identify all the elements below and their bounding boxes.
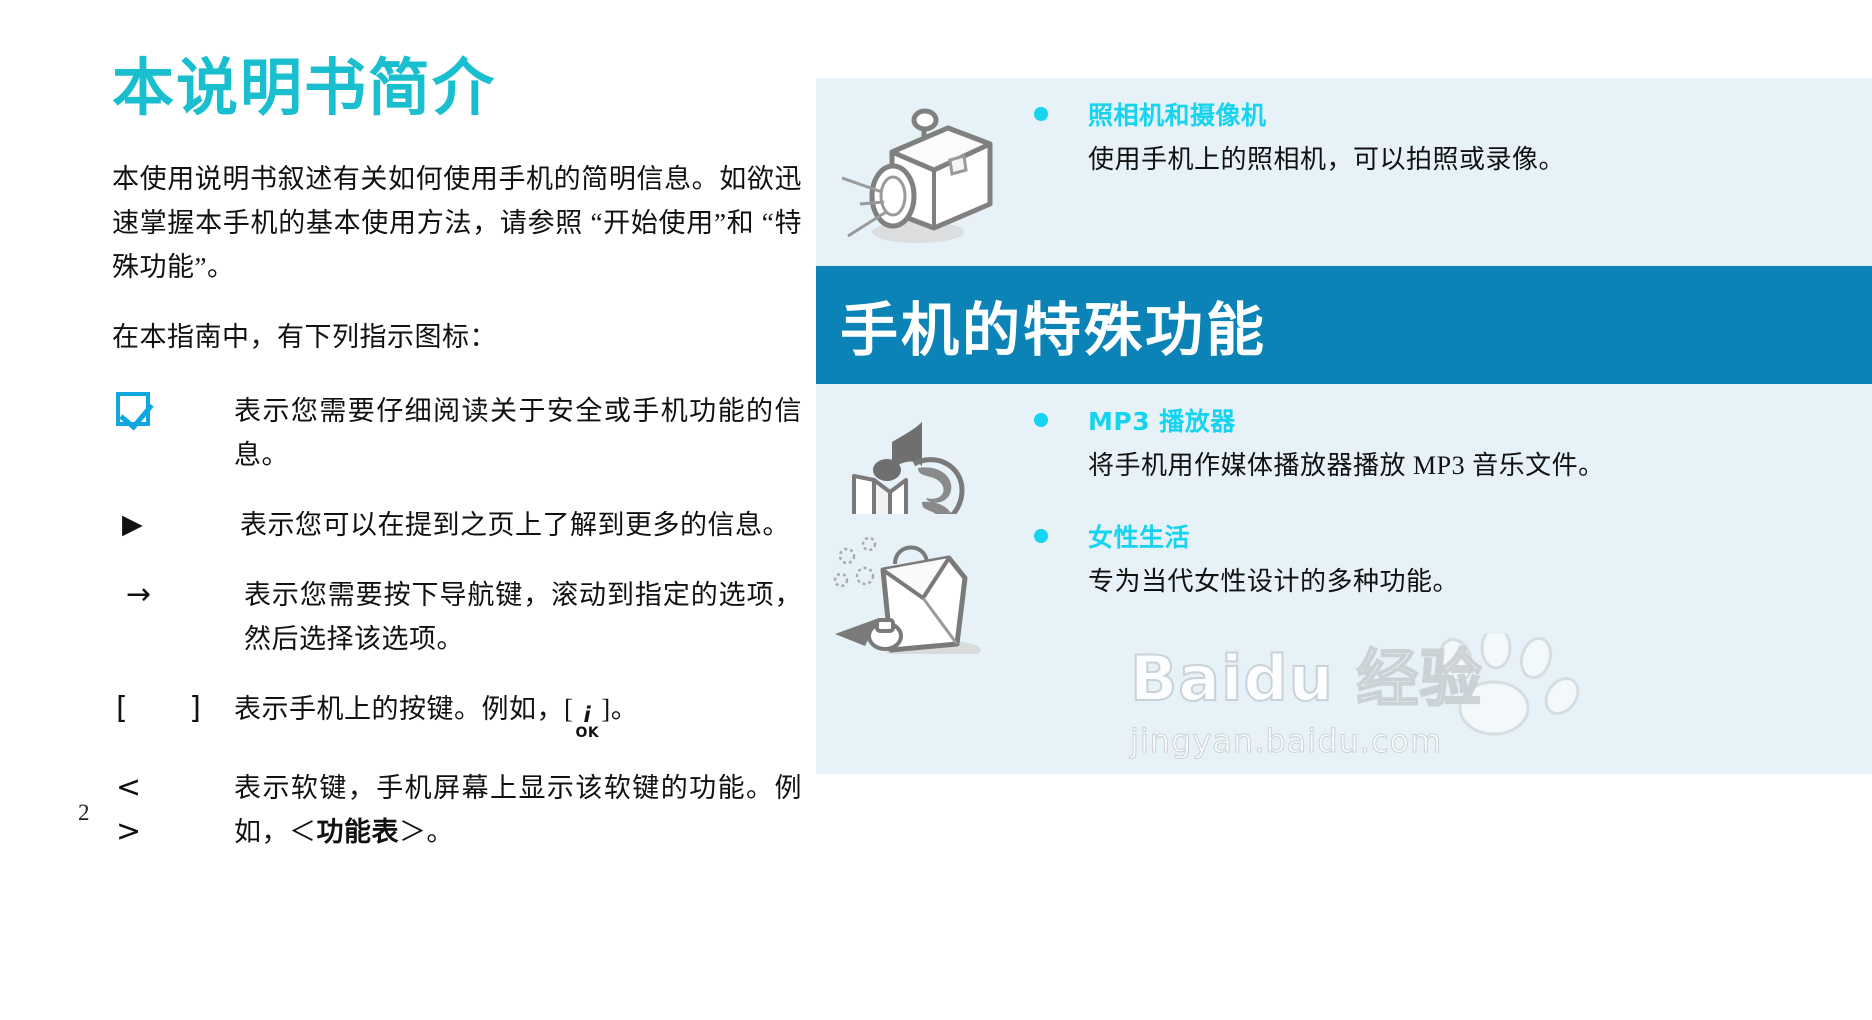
right-panel: 照相机和摄像机 使用手机上的照相机，可以拍照或录像。 手机的特殊功能	[816, 78, 1872, 768]
camera-icon	[816, 96, 1034, 260]
convention-description: 表示软键，手机屏幕上显示该软键的功能。例如，＜功能表＞。	[234, 766, 802, 855]
convention-item-angle-brackets: < > 表示软键，手机屏幕上显示该软键的功能。例如，＜功能表＞。	[112, 766, 802, 855]
feature-mp3: MP3 播放器 将手机用作媒体播放器播放 MP3 音乐文件。	[816, 384, 1872, 514]
bullet-icon	[1034, 413, 1048, 427]
conventions-list: 表示您需要仔细阅读关于安全或手机功能的信息。 ▶ 表示您可以在提到之页上了解到更…	[112, 389, 802, 855]
feature-camera: 照相机和摄像机 使用手机上的照相机，可以拍照或录像。	[816, 78, 1872, 266]
triangle-right-icon: ▶	[112, 503, 240, 547]
bullet-icon	[1034, 529, 1048, 543]
page-number: 2	[78, 800, 90, 826]
left-column: 本说明书简介 本使用说明书叙述有关如何使用手机的简明信息。如欲迅速掌握本手机的基…	[112, 52, 802, 881]
feature-womens-life-heading: 女性生活	[1034, 518, 1832, 554]
feature-title: MP3 播放器	[1088, 402, 1236, 438]
convention-description: 表示您需要仔细阅读关于安全或手机功能的信息。	[234, 389, 802, 477]
feature-womens-life: 女性生活 专为当代女性设计的多种功能。	[816, 514, 1872, 654]
convention-description: 表示手机上的按键。例如，[iOK]。	[234, 687, 802, 740]
feature-title: 照相机和摄像机	[1088, 96, 1267, 132]
convention-item-arrow: → 表示您需要按下导航键，滚动到指定的选项，然后选择该选项。	[112, 573, 802, 661]
checkbox-checked-icon	[116, 392, 150, 426]
feature-description: 使用手机上的照相机，可以拍照或录像。	[1034, 140, 1688, 180]
panel-filler	[816, 654, 1872, 774]
convention-description: 表示您可以在提到之页上了解到更多的信息。	[240, 503, 802, 547]
womens-life-icon	[816, 518, 1034, 672]
womens-life-icon-svg	[825, 522, 1025, 672]
feature-description: 将手机用作媒体播放器播放 MP3 音乐文件。	[1034, 446, 1688, 486]
intro-paragraph-2: 在本指南中，有下列指示图标：	[112, 315, 802, 359]
feature-camera-text: 照相机和摄像机 使用手机上的照相机，可以拍照或录像。	[1034, 96, 1872, 180]
feature-mp3-heading: MP3 播放器	[1034, 402, 1832, 438]
intro-paragraph-1: 本使用说明书叙述有关如何使用手机的简明信息。如欲迅速掌握本手机的基本使用方法，请…	[112, 157, 802, 289]
angle-brackets-icon: < >	[112, 766, 234, 854]
convention-item-checkbox: 表示您需要仔细阅读关于安全或手机功能的信息。	[112, 389, 802, 477]
convention-description-after: ]。	[601, 694, 638, 724]
bullet-icon	[1034, 107, 1048, 121]
feature-title: 女性生活	[1088, 518, 1190, 554]
camera-icon-svg	[830, 100, 1020, 260]
convention-item-triangle: ▶ 表示您可以在提到之页上了解到更多的信息。	[112, 503, 802, 547]
manual-page: 本说明书简介 本使用说明书叙述有关如何使用手机的简明信息。如欲迅速掌握本手机的基…	[0, 0, 1872, 1020]
i-glyph: i	[584, 705, 592, 726]
arrow-right-icon: →	[112, 573, 244, 617]
feature-mp3-text: MP3 播放器 将手机用作媒体播放器播放 MP3 音乐文件。	[1034, 402, 1872, 486]
convention-symbol-cell	[112, 389, 234, 433]
convention-item-square-brackets: [ ] 表示手机上的按键。例如，[iOK]。	[112, 687, 802, 740]
square-brackets-icon: [ ]	[112, 687, 234, 731]
feature-womens-life-text: 女性生活 专为当代女性设计的多种功能。	[1034, 518, 1872, 602]
page-title: 本说明书简介	[112, 52, 802, 123]
convention-description-after: ＞。	[399, 817, 454, 847]
i-ok-key-icon: iOK	[576, 705, 600, 740]
convention-description-before: 表示手机上的按键。例如，[	[234, 694, 574, 724]
feature-description: 专为当代女性设计的多种功能。	[1034, 562, 1688, 602]
softkey-label: 功能表	[317, 817, 400, 848]
convention-description: 表示您需要按下导航键，滚动到指定的选项，然后选择该选项。	[244, 573, 802, 661]
special-features-banner: 手机的特殊功能	[816, 266, 1872, 384]
banner-title: 手机的特殊功能	[840, 283, 1267, 367]
feature-camera-heading: 照相机和摄像机	[1034, 96, 1832, 132]
ok-glyph: OK	[576, 726, 600, 740]
